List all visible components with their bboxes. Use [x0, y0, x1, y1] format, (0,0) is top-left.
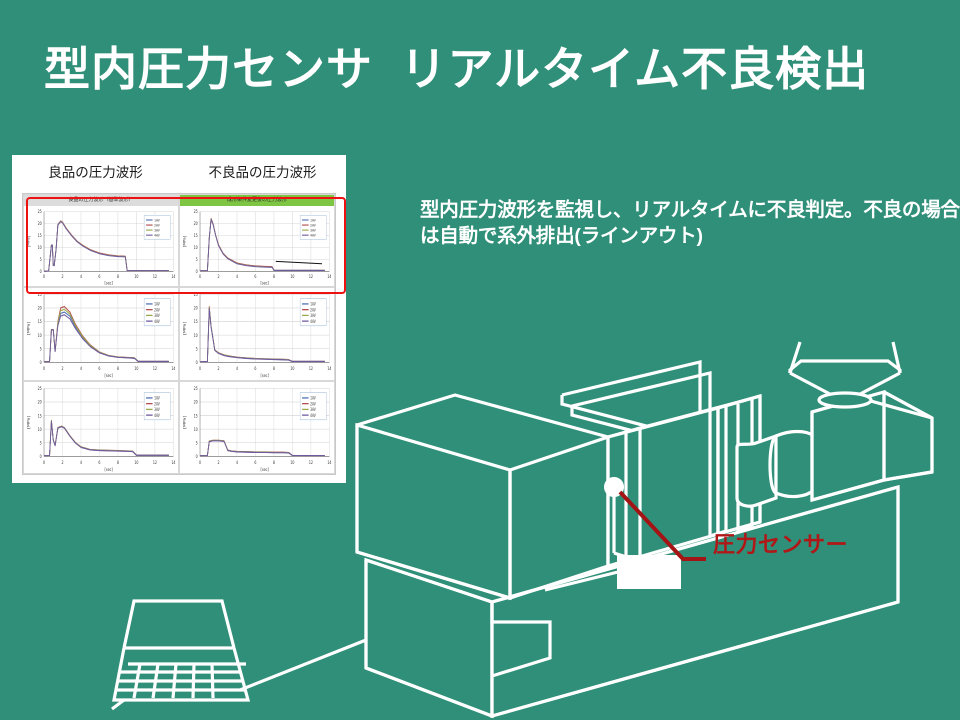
- svg-text:14: 14: [171, 275, 176, 279]
- pressure-sensor-dot: [605, 478, 623, 496]
- hopper-funnel-upper-right: [893, 342, 900, 373]
- laptop-keyboard-deck: [114, 648, 248, 700]
- barrel-housing-right: [718, 396, 760, 534]
- hopper-funnel-top-rim: [790, 361, 900, 373]
- platen-plate-b: [710, 405, 726, 536]
- svg-text:12: 12: [309, 459, 314, 465]
- svg-text:4AV: 4AV: [310, 413, 316, 418]
- svg-text:14: 14: [327, 459, 332, 465]
- tie-bar-lower: [572, 406, 710, 451]
- svg-text:25: 25: [194, 292, 199, 298]
- svg-text:4: 4: [236, 459, 238, 465]
- hopper-block-front: [812, 392, 884, 500]
- svg-text:2: 2: [217, 459, 219, 465]
- svg-text:10: 10: [194, 333, 199, 339]
- svg-text:0: 0: [199, 275, 202, 279]
- svg-text:6: 6: [98, 366, 100, 372]
- hopper-funnel-throat: [819, 393, 871, 407]
- svg-text:5: 5: [40, 440, 42, 446]
- svg-text:10: 10: [134, 275, 139, 279]
- svg-text:4: 4: [236, 275, 239, 279]
- svg-text:[sec]: [sec]: [261, 281, 270, 285]
- svg-text:3AV: 3AV: [310, 314, 316, 319]
- machine-base-bottom-edge: [366, 602, 898, 716]
- chart-cell-4: 024681012140510152025[sec][MPa]1AV2AV3AV…: [23, 381, 179, 474]
- svg-text:20: 20: [38, 222, 43, 226]
- svg-text:4: 4: [236, 366, 238, 372]
- barrel-housing-front: [608, 408, 718, 566]
- svg-text:1AV: 1AV: [310, 396, 316, 401]
- svg-text:10: 10: [194, 246, 199, 250]
- machine-base-step-notch: [492, 602, 550, 676]
- svg-text:2: 2: [61, 459, 63, 465]
- svg-text:4AV: 4AV: [310, 233, 316, 237]
- svg-text:10: 10: [38, 246, 43, 250]
- svg-text:2: 2: [61, 275, 63, 279]
- svg-text:14: 14: [171, 459, 176, 465]
- svg-text:20: 20: [38, 399, 43, 405]
- chart-plot-0: 024681012140510152025[sec][MPa]1AV2AV3AV…: [24, 206, 178, 286]
- svg-text:5: 5: [40, 346, 42, 352]
- svg-text:15: 15: [38, 234, 42, 238]
- svg-text:4: 4: [80, 366, 82, 372]
- svg-text:6: 6: [254, 366, 256, 372]
- chart-plot-5: 024681012140510152025[sec][MPa]1AV2AV3AV…: [180, 382, 334, 473]
- clamp-unit-bottom-edge: [357, 552, 510, 598]
- chart-grid: 良品の圧力波形（基準波形） 024681012140510152025[sec]…: [22, 193, 336, 475]
- svg-text:2: 2: [217, 275, 219, 279]
- svg-text:10: 10: [194, 426, 199, 432]
- svg-text:[MPa]: [MPa]: [183, 235, 187, 247]
- svg-text:10: 10: [134, 459, 139, 465]
- page-title: 型内圧力センサ リアルタイム不良検出: [44, 44, 944, 96]
- svg-text:20: 20: [194, 305, 199, 311]
- svg-text:8: 8: [273, 275, 276, 279]
- sensor-stem-foot: [614, 553, 648, 564]
- svg-text:4AV: 4AV: [154, 413, 160, 418]
- svg-text:0: 0: [43, 366, 45, 372]
- svg-text:[sec]: [sec]: [261, 373, 270, 379]
- slide-root: 型内圧力センサ リアルタイム不良検出 良品の圧力波形 不良品の圧力波形 良品の圧…: [0, 0, 960, 720]
- chart-plot-2: 024681012140510152025[sec][MPa]1AV2AV3AV…: [24, 288, 178, 379]
- svg-text:6: 6: [98, 275, 101, 279]
- clamp-unit-front-face: [357, 425, 510, 598]
- svg-text:[sec]: [sec]: [105, 281, 114, 285]
- pressure-waveform-screenshot: 良品の圧力波形 不良品の圧力波形 良品の圧力波形（基準波形） 024681012…: [12, 155, 346, 483]
- svg-text:0: 0: [40, 453, 42, 459]
- svg-text:15: 15: [38, 412, 43, 418]
- svg-text:[sec]: [sec]: [105, 466, 114, 472]
- svg-text:10: 10: [290, 275, 295, 279]
- hopper-funnel-upper-left: [790, 342, 800, 373]
- svg-text:3AV: 3AV: [154, 228, 160, 232]
- nozzle-cylinder-seam: [770, 436, 776, 493]
- svg-text:0: 0: [196, 453, 198, 459]
- sensor-cable-to-base: [545, 572, 618, 590]
- svg-text:6: 6: [254, 459, 256, 465]
- svg-text:2AV: 2AV: [310, 223, 316, 227]
- platen-plate-a: [626, 428, 640, 560]
- svg-text:2AV: 2AV: [154, 223, 160, 227]
- svg-text:0: 0: [40, 360, 42, 366]
- data-cable-to-laptop: [240, 640, 366, 690]
- chart-panel-headings: 良品の圧力波形 不良品の圧力波形: [12, 161, 346, 187]
- svg-text:0: 0: [199, 459, 201, 465]
- svg-text:25: 25: [194, 385, 199, 391]
- svg-text:[MPa]: [MPa]: [27, 235, 31, 247]
- clamp-unit-top-face: [357, 395, 608, 470]
- svg-text:5: 5: [196, 440, 198, 446]
- svg-text:2: 2: [217, 366, 219, 372]
- svg-text:14: 14: [327, 275, 332, 279]
- svg-text:1AV: 1AV: [154, 396, 160, 401]
- svg-text:8: 8: [117, 366, 119, 372]
- laptop-key-col-5: [212, 664, 213, 698]
- chart-plot-4: 024681012140510152025[sec][MPa]1AV2AV3AV…: [24, 382, 178, 473]
- svg-text:2AV: 2AV: [154, 308, 160, 313]
- svg-text:4: 4: [80, 275, 83, 279]
- tie-bar-lower-top: [572, 373, 710, 442]
- svg-text:4AV: 4AV: [154, 320, 160, 325]
- nozzle-cylinder-small: [737, 436, 776, 506]
- laptop-key-col-3: [173, 664, 176, 698]
- svg-text:2: 2: [61, 366, 63, 372]
- svg-text:0: 0: [43, 459, 45, 465]
- svg-text:25: 25: [38, 210, 42, 214]
- laptop-base-foot: [112, 700, 124, 709]
- svg-text:2AV: 2AV: [310, 402, 316, 407]
- hopper-funnel-left-wall: [790, 373, 900, 402]
- svg-text:3AV: 3AV: [310, 228, 316, 232]
- svg-text:20: 20: [194, 222, 199, 226]
- svg-text:25: 25: [38, 385, 43, 391]
- svg-text:12: 12: [153, 459, 158, 465]
- chart-cell-1: 成形条件変更後の圧力波形 024681012140510152025[sec][…: [179, 194, 335, 287]
- svg-text:0: 0: [196, 360, 198, 366]
- svg-text:15: 15: [194, 319, 199, 325]
- svg-text:6: 6: [98, 459, 100, 465]
- svg-text:5: 5: [196, 346, 198, 352]
- barrel-housing-cap-top: [718, 396, 760, 408]
- svg-text:[MPa]: [MPa]: [26, 415, 30, 429]
- svg-text:1AV: 1AV: [310, 303, 316, 308]
- description-text: 型内圧力波形を監視し、リアルタイムに不良判定。不良の場合は自動で系外排出(ライン…: [420, 198, 960, 249]
- tie-bar-upper-top: [562, 362, 700, 431]
- svg-text:3AV: 3AV: [154, 407, 160, 412]
- machine-base-left-face: [366, 560, 492, 716]
- chart-cell-1-header: 成形条件変更後の圧力波形: [180, 195, 334, 206]
- svg-text:25: 25: [194, 210, 198, 214]
- chart-cell-5: 024681012140510152025[sec][MPa]1AV2AV3AV…: [179, 381, 335, 474]
- svg-text:15: 15: [38, 319, 43, 325]
- svg-text:1AV: 1AV: [154, 303, 160, 308]
- svg-text:1AV: 1AV: [154, 218, 160, 222]
- chart-cell-0: 良品の圧力波形（基準波形） 024681012140510152025[sec]…: [23, 194, 179, 287]
- platen-plate-c: [738, 399, 752, 530]
- pressure-sensor-label: 圧力センサー: [713, 527, 848, 559]
- svg-text:15: 15: [194, 412, 199, 418]
- svg-text:0: 0: [43, 275, 46, 279]
- svg-text:3AV: 3AV: [310, 407, 316, 412]
- clamp-unit-right-face: [510, 437, 608, 598]
- svg-text:12: 12: [309, 366, 314, 372]
- svg-text:10: 10: [290, 459, 295, 465]
- svg-text:[MPa]: [MPa]: [26, 322, 30, 336]
- svg-text:25: 25: [38, 292, 43, 298]
- svg-text:10: 10: [38, 333, 43, 339]
- svg-text:4AV: 4AV: [154, 233, 160, 237]
- laptop-key-col-4: [193, 664, 194, 698]
- svg-text:12: 12: [309, 275, 313, 279]
- hopper-block-top: [812, 392, 932, 418]
- svg-text:5: 5: [196, 258, 198, 262]
- svg-text:20: 20: [38, 305, 43, 311]
- svg-text:4AV: 4AV: [310, 320, 316, 325]
- svg-text:[sec]: [sec]: [105, 373, 114, 379]
- chart-cell-0-header: 良品の圧力波形（基準波形）: [24, 195, 178, 206]
- chart-cell-2: 024681012140510152025[sec][MPa]1AV2AV3AV…: [23, 287, 179, 380]
- chart-plot-3: 024681012140510152025[sec][MPa]1AV2AV3AV…: [180, 288, 334, 379]
- svg-text:2AV: 2AV: [310, 308, 316, 313]
- svg-text:5: 5: [40, 258, 42, 262]
- svg-text:0: 0: [40, 270, 43, 274]
- chart-cell-3: 024681012140510152025[sec][MPa]1AV2AV3AV…: [179, 287, 335, 380]
- svg-text:8: 8: [273, 459, 275, 465]
- svg-text:4: 4: [80, 459, 82, 465]
- svg-text:12: 12: [153, 366, 158, 372]
- laptop-key-col-2: [153, 664, 158, 698]
- svg-text:12: 12: [153, 275, 157, 279]
- svg-text:0: 0: [196, 270, 199, 274]
- chart-plot-1: 024681012140510152025[sec][MPa]1AV2AV3AV…: [180, 206, 334, 286]
- sensor-leader-line: [620, 492, 706, 559]
- svg-text:8: 8: [117, 459, 119, 465]
- svg-text:8: 8: [273, 366, 275, 372]
- svg-text:1AV: 1AV: [310, 218, 316, 222]
- svg-text:20: 20: [194, 399, 199, 405]
- laptop-key-col-1: [134, 664, 140, 698]
- nozzle-cylinder-large: [776, 432, 814, 497]
- svg-text:[MPa]: [MPa]: [182, 322, 186, 336]
- svg-text:10: 10: [290, 366, 295, 372]
- svg-text:15: 15: [194, 234, 198, 238]
- laptop-screen-outline: [124, 601, 234, 648]
- svg-text:[MPa]: [MPa]: [182, 415, 186, 429]
- svg-text:14: 14: [327, 366, 332, 372]
- tie-bar-upper: [562, 395, 700, 440]
- svg-text:6: 6: [254, 275, 257, 279]
- svg-text:3AV: 3AV: [154, 314, 160, 319]
- heading-good-product: 良品の圧力波形: [12, 161, 179, 187]
- hopper-block-bottom: [812, 472, 932, 500]
- svg-text:0: 0: [199, 366, 201, 372]
- barrel-housing-top: [608, 399, 750, 437]
- hopper-block-right: [884, 392, 932, 480]
- svg-text:10: 10: [134, 366, 139, 372]
- svg-text:10: 10: [38, 426, 43, 432]
- svg-text:2AV: 2AV: [154, 402, 160, 407]
- sensor-junction-box: [618, 556, 680, 588]
- heading-defect-product: 不良品の圧力波形: [179, 161, 346, 187]
- svg-text:[sec]: [sec]: [261, 466, 270, 472]
- svg-text:8: 8: [117, 275, 120, 279]
- machine-base-front-face: [492, 487, 898, 716]
- svg-text:14: 14: [171, 366, 176, 372]
